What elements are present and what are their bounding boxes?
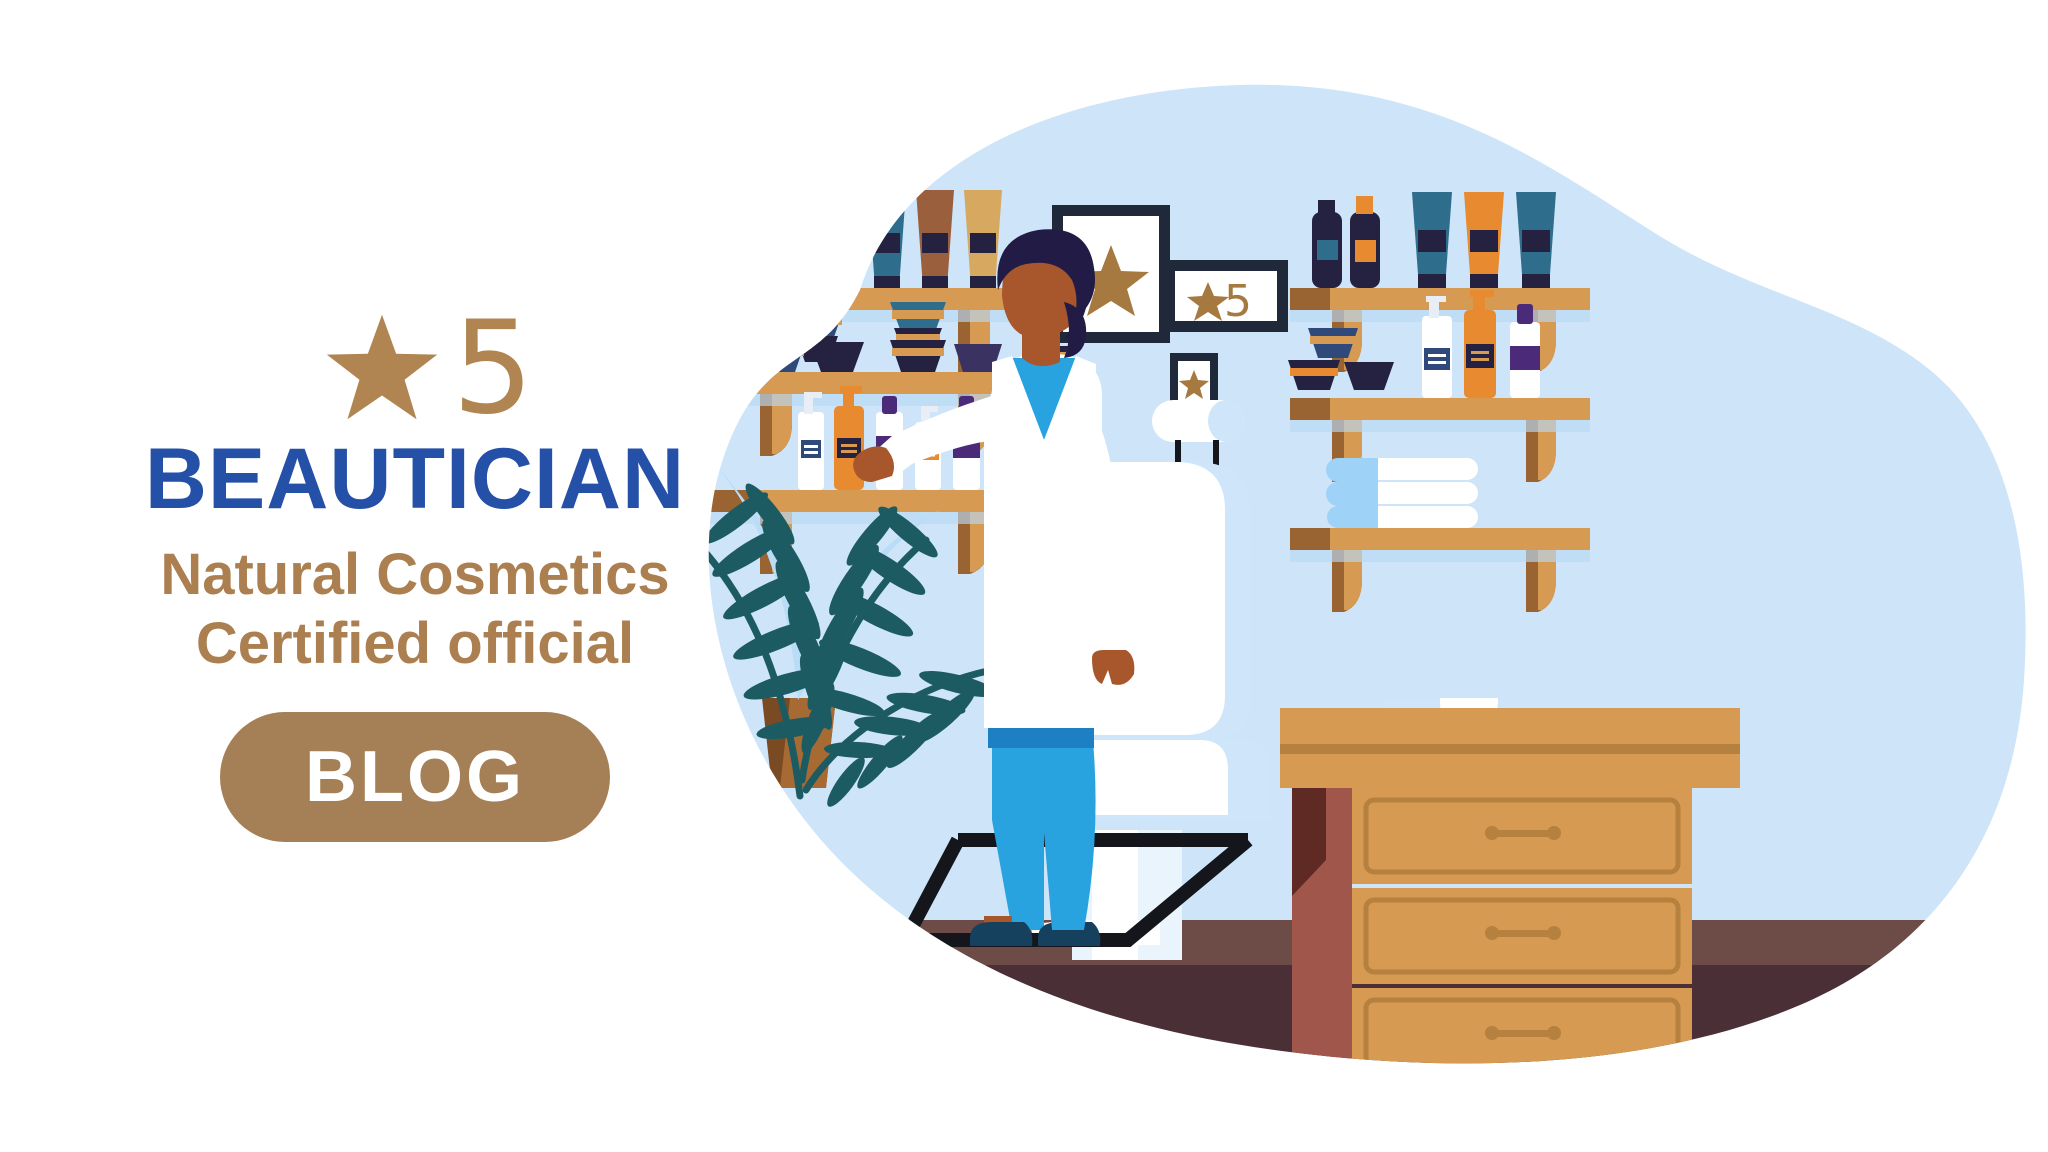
salon-illustration: 5	[640, 40, 2040, 1120]
blog-button[interactable]: BLOG	[220, 712, 610, 842]
subtitle-line-1: Natural Cosmetics	[160, 541, 669, 609]
subtitle-line-2: Certified official	[196, 610, 634, 678]
dresser-cabinet	[1280, 698, 1740, 1120]
svg-text:5: 5	[1224, 276, 1252, 327]
promo-banner: 5 BEAUTICIAN Natural Cosmetics Certified…	[0, 0, 2048, 1152]
rating-value: 5	[452, 313, 531, 426]
star-icon	[322, 310, 442, 430]
rating-row: 5	[322, 310, 531, 430]
framed-star-rating: 5	[1164, 260, 1288, 332]
folded-towels	[1326, 458, 1478, 528]
page-title: BEAUTICIAN	[145, 436, 685, 524]
dresser-drawers[interactable]	[1352, 788, 1692, 1084]
